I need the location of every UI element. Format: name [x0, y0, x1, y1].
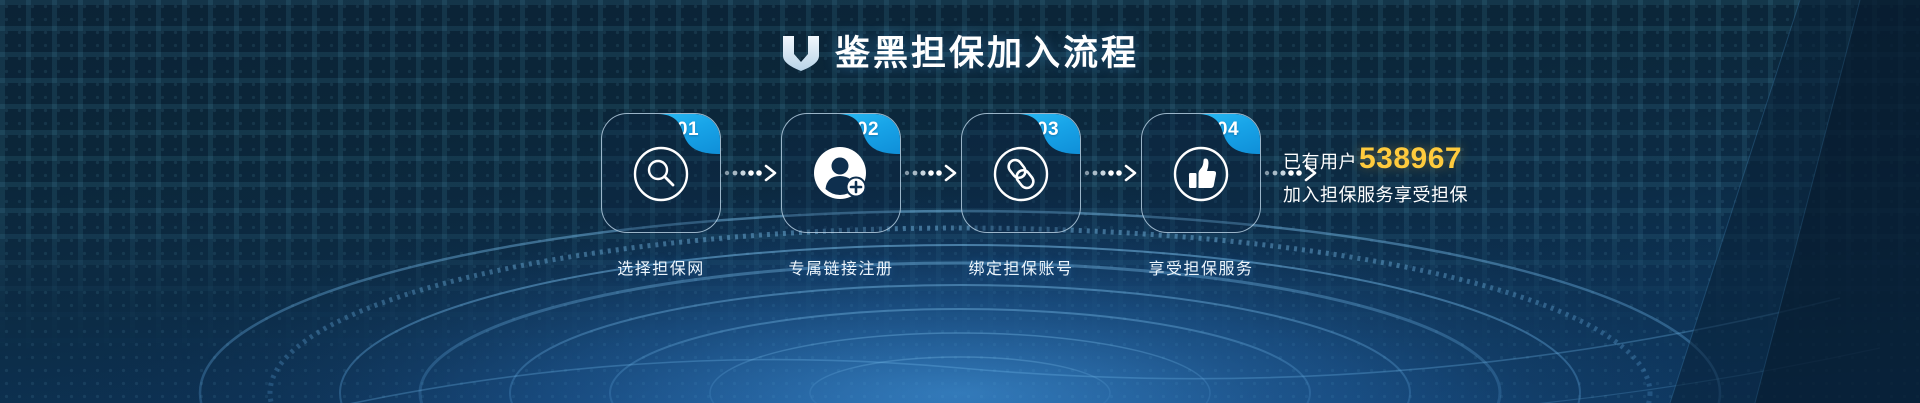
user-add-icon: [812, 145, 870, 208]
user-count-subtitle: 加入担保服务享受担保: [1283, 181, 1468, 207]
step-card-1[interactable]: 01: [601, 113, 721, 233]
search-icon: [632, 145, 690, 208]
page-title: 鉴黑担保加入流程: [835, 36, 1139, 71]
banner-title-row: 鉴黑担保加入流程: [0, 34, 1920, 72]
promo-banner: 鉴黑担保加入流程 01 选择担保网: [0, 0, 1920, 403]
steps-flow: 01 选择担保网: [0, 113, 1920, 279]
dotted-arrow-right-icon-3: [1082, 113, 1140, 233]
step-item-2[interactable]: 02 专属链接注册: [780, 113, 902, 279]
step-label-3: 绑定担保账号: [968, 255, 1073, 279]
step-label-4: 享受担保服务: [1148, 255, 1253, 279]
user-count-block: 已有用户 538967 加入担保服务享受担保: [1283, 144, 1468, 207]
dotted-arrow-right-icon-2: [902, 113, 960, 233]
step-label-2: 专属链接注册: [788, 255, 893, 279]
step-item-1[interactable]: 01 选择担保网: [600, 113, 722, 279]
step-card-3[interactable]: 03: [961, 113, 1081, 233]
user-count-prefix: 已有用户: [1283, 148, 1357, 174]
step-card-4[interactable]: 04: [1141, 113, 1261, 233]
shield-m-logo-icon: [781, 34, 821, 72]
dotted-arrow-right-icon-1: [722, 113, 780, 233]
thumbs-up-icon: [1172, 145, 1230, 208]
step-item-3[interactable]: 03 绑定担保账号: [960, 113, 1082, 279]
user-count-line: 已有用户 538967: [1283, 144, 1468, 174]
link-chain-icon: [992, 145, 1050, 208]
step-card-2[interactable]: 02: [781, 113, 901, 233]
step-label-1: 选择担保网: [617, 255, 705, 279]
user-count-number: 538967: [1359, 144, 1462, 174]
step-item-4[interactable]: 04 享受担保服务: [1140, 113, 1262, 279]
